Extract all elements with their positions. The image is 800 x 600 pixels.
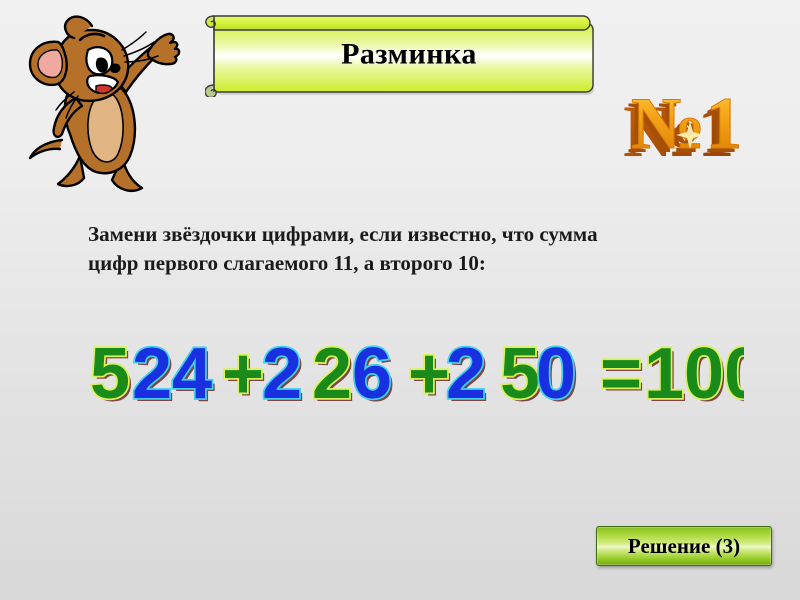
solution-button[interactable]: Решение (3) — [596, 526, 772, 566]
banner-title-text: Разминка — [205, 37, 595, 71]
equation-token-t4: 22 — [262, 334, 305, 417]
equation-glyph: 2 — [312, 334, 352, 414]
solution-button-label: Решение (3) — [628, 534, 740, 559]
equation-glyph: = — [600, 334, 642, 414]
equation-token-t8: 22 — [446, 334, 489, 417]
equation-glyph: 1000 — [644, 334, 744, 414]
equation-token-t11: == — [600, 334, 645, 417]
equation-token-t6: 66 — [352, 334, 395, 417]
equation-token-t12: 10001000 — [644, 334, 744, 417]
equation-glyph: 2 — [446, 334, 486, 414]
equation-svg: 55++22++55==10001000242422662200 — [84, 327, 744, 419]
number-badge: №1 №1 №1 — [613, 88, 783, 170]
equation-glyph: 5 — [500, 334, 540, 414]
equation-glyph: 6 — [352, 334, 392, 414]
equation-token-t2: 2424 — [132, 334, 215, 417]
equation-token-t3: ++ — [222, 334, 267, 417]
equation-glyph: + — [408, 334, 450, 414]
task-description: Замени звёздочки цифрами, если известно,… — [88, 220, 768, 279]
title-banner: Разминка — [205, 13, 595, 97]
equation-glyph: 5 — [90, 334, 130, 414]
task-line-2: цифр первого слагаемого 11, а второго 10… — [88, 249, 768, 278]
number-badge-face-text: №1 — [631, 88, 742, 165]
task-line-1: Замени звёздочки цифрами, если известно,… — [88, 220, 768, 249]
equation-glyph: 0 — [536, 334, 576, 414]
slide-canvas: Разминка №1 №1 №1 — [0, 0, 800, 600]
equation-glyph: + — [222, 334, 264, 414]
equation-glyph: 2 — [262, 334, 302, 414]
equation-token-t1: 55 — [90, 334, 133, 417]
jerry-mouse-character — [18, 6, 190, 204]
equation-token-t10: 00 — [536, 334, 579, 417]
equation-glyph: 24 — [132, 334, 212, 414]
equation-token-t5: 22 — [312, 334, 355, 417]
equation-wordart: 55++22++55==10001000242422662200 — [84, 327, 744, 419]
